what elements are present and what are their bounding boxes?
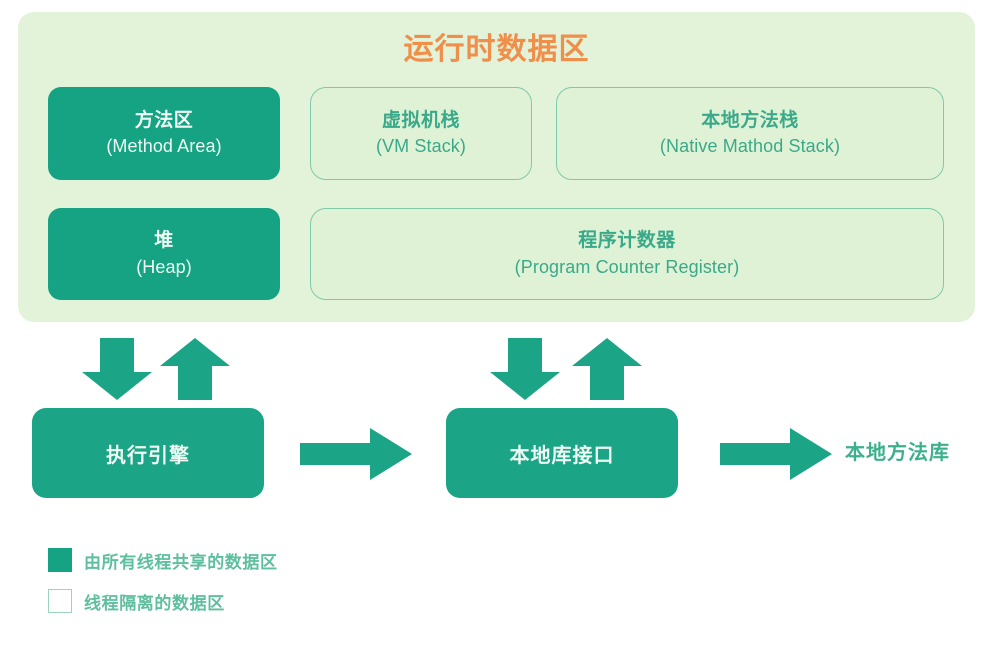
memory-box-method-area[interactable]: 方法区 (Method Area) [48,87,280,180]
page-title: 运行时数据区 [18,32,975,68]
native-interface-label: 本地库接口 [510,439,615,468]
legend-label-isolated: 线程隔离的数据区 [84,589,225,614]
memory-box-label-en: (VM Stack) [376,135,466,158]
arrow-right-icon-interface-to-library [720,428,832,480]
memory-box-label-cn: 本地方法栈 [701,109,799,133]
memory-box-label-en: (Program Counter Register) [515,256,740,279]
execution-engine-label: 执行引擎 [106,439,190,468]
legend-item-isolated: 线程隔离的数据区 [48,589,278,613]
legend: 由所有线程共享的数据区 线程隔离的数据区 [48,548,278,630]
native-library-label: 本地方法库 [845,436,950,465]
memory-box-label-cn: 虚拟机栈 [382,109,460,133]
memory-box-label-en: (Native Mathod Stack) [660,135,840,158]
memory-box-label-cn: 程序计数器 [578,229,676,253]
arrow-up-icon-native-interface [572,338,652,400]
memory-box-label-en: (Method Area) [106,135,221,158]
memory-box-label-en: (Heap) [136,256,192,279]
runtime-data-area-panel: 运行时数据区 方法区 (Method Area) 虚拟机栈 (VM Stack)… [18,12,975,322]
native-interface-box[interactable]: 本地库接口 [446,408,678,498]
memory-box-vm-stack[interactable]: 虚拟机栈 (VM Stack) [310,87,532,180]
memory-box-label-cn: 堆 [154,229,174,253]
legend-item-shared: 由所有线程共享的数据区 [48,548,278,572]
memory-box-program-counter-register[interactable]: 程序计数器 (Program Counter Register) [310,208,944,300]
arrow-up-icon-engine [160,338,240,400]
arrow-down-icon-native-interface [490,338,570,400]
legend-swatch-filled-icon [48,548,72,572]
legend-label-shared: 由所有线程共享的数据区 [84,548,278,573]
execution-engine-box[interactable]: 执行引擎 [32,408,264,498]
arrow-right-icon-engine-to-interface [300,428,412,480]
legend-swatch-outline-icon [48,589,72,613]
memory-box-native-method-stack[interactable]: 本地方法栈 (Native Mathod Stack) [556,87,944,180]
memory-box-label-cn: 方法区 [135,109,194,133]
memory-box-heap[interactable]: 堆 (Heap) [48,208,280,300]
